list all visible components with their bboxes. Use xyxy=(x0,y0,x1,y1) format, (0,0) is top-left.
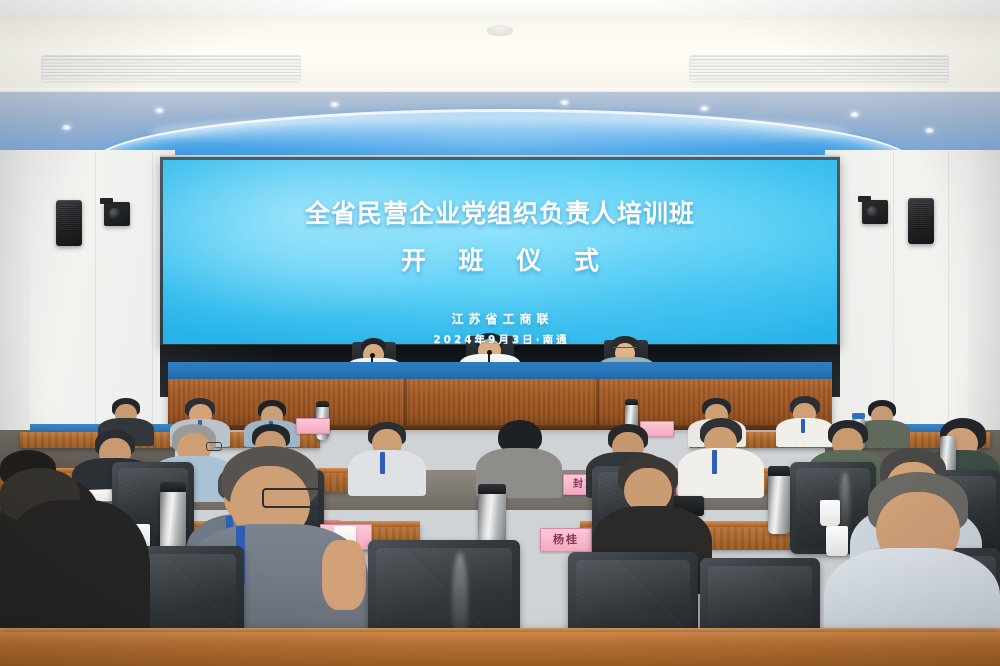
lanyard xyxy=(801,419,805,433)
downlight-icon xyxy=(155,108,164,113)
arm xyxy=(322,540,366,610)
downlight-icon xyxy=(560,100,569,105)
head-table-seam xyxy=(404,379,407,427)
screen-organizer: 江苏省工商联 xyxy=(163,310,837,327)
thermos-cap xyxy=(160,482,186,492)
glasses-icon xyxy=(206,442,222,451)
lanyard xyxy=(712,450,717,474)
camera-icon xyxy=(862,200,888,224)
torso xyxy=(348,450,426,496)
lanyard xyxy=(380,452,385,474)
camera-icon xyxy=(104,202,130,226)
head-table-seam xyxy=(596,379,599,427)
smoke-detector-icon xyxy=(487,25,513,35)
name-placard: 杨桂 xyxy=(540,528,592,552)
air-vent-icon xyxy=(690,56,948,81)
downlight-icon xyxy=(330,102,339,107)
ceiling-top-band xyxy=(0,0,1000,22)
thermos-cap xyxy=(478,484,506,494)
downlight-icon xyxy=(850,112,859,117)
downlight-icon xyxy=(62,125,71,130)
paper-cup xyxy=(820,500,840,526)
screen-subtitle: 开 班 仪 式 xyxy=(163,241,837,277)
glasses-icon xyxy=(613,347,637,352)
screen-date-location: 2024年9月3日·南通 xyxy=(163,332,837,344)
oval-cove-gloss xyxy=(150,115,850,149)
torso xyxy=(776,418,834,447)
downlight-icon xyxy=(925,128,934,133)
conference-hall-photo: 全省民营企业党组织负责人培训班 开 班 仪 式 江苏省工商联 2024年9月3日… xyxy=(0,0,1000,666)
thermos-cap xyxy=(852,413,865,419)
glasses-icon xyxy=(262,488,322,508)
downlight-icon xyxy=(700,106,709,111)
torso xyxy=(678,448,764,498)
wall-speaker-icon xyxy=(908,198,934,244)
air-vent-icon xyxy=(42,56,300,81)
thermos-flask xyxy=(768,474,790,534)
screen-title: 全省民营企业党组织负责人培训班 xyxy=(163,194,837,230)
thermos-cap xyxy=(625,399,638,405)
led-screen: 全省民营企业党组织负责人培训班 开 班 仪 式 江苏省工商联 2024年9月3日… xyxy=(163,160,837,344)
thermos-cap xyxy=(768,466,790,476)
thermos-cap xyxy=(316,401,329,407)
wall-speaker-icon xyxy=(56,200,82,246)
paper-cup xyxy=(826,526,848,556)
front-desk xyxy=(0,632,1000,666)
name-placard xyxy=(296,418,330,434)
